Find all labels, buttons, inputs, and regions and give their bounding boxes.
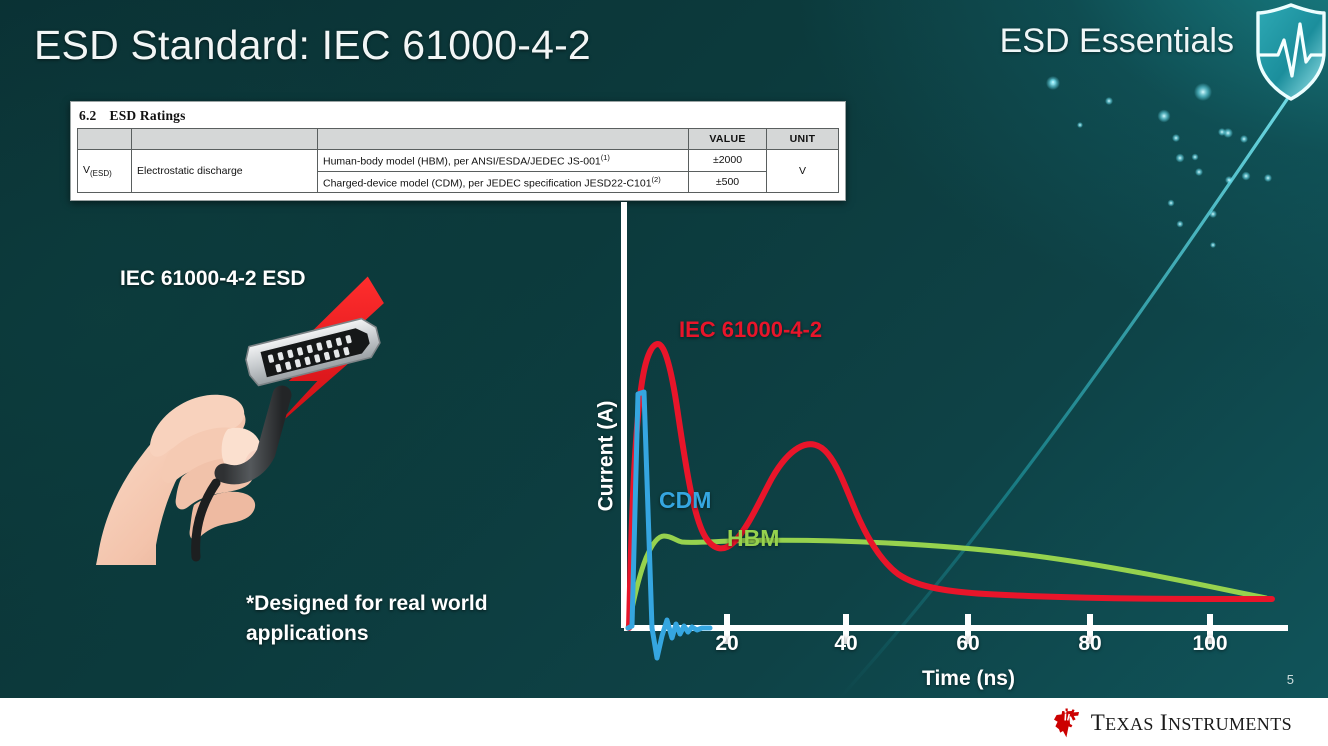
cell-value-cdm: ±500 bbox=[689, 171, 767, 193]
y-axis-label: Current (A) bbox=[594, 401, 618, 512]
desc-hbm-footnote: (1) bbox=[601, 153, 610, 162]
series-label-iec: IEC 61000-4-2 bbox=[679, 317, 822, 343]
esd-table-section-title: ESD Ratings bbox=[109, 108, 185, 123]
page-number: 5 bbox=[1287, 672, 1294, 687]
symbol-sub: (ESD) bbox=[90, 169, 112, 178]
header-blank-1 bbox=[78, 129, 132, 150]
cell-description-hbm: Human-body model (HBM), per ANSI/ESDA/JE… bbox=[318, 150, 689, 172]
header-value: VALUE bbox=[689, 129, 767, 150]
x-tick-label-100: 100 bbox=[1192, 632, 1227, 656]
brand-title: ESD Essentials bbox=[1000, 22, 1234, 61]
x-tick-label-60: 60 bbox=[956, 632, 979, 656]
texas-instruments-logo: TEXAS INSTRUMENTS bbox=[1052, 706, 1292, 740]
desc-cdm-text: Charged-device model (CDM), per JEDEC sp… bbox=[323, 177, 652, 189]
series-label-cdm: CDM bbox=[659, 487, 711, 514]
hand-connector-illustration bbox=[96, 255, 426, 565]
x-tick-label-20: 20 bbox=[715, 632, 738, 656]
desc-hbm-text: Human-body model (HBM), per ANSI/ESDA/JE… bbox=[323, 156, 601, 168]
cell-value-hbm: ±2000 bbox=[689, 150, 767, 172]
x-tick-label-40: 40 bbox=[834, 632, 857, 656]
header-blank-3 bbox=[318, 129, 689, 150]
esd-ratings-table-card: 6.2ESD Ratings VALUE UNIT V(ESD) Electro… bbox=[70, 101, 846, 201]
table-row: V(ESD) Electrostatic discharge Human-bod… bbox=[78, 150, 839, 172]
desc-cdm-footnote: (2) bbox=[652, 175, 661, 184]
esd-waveform-chart bbox=[566, 196, 1306, 696]
slide: ESD Standard: IEC 61000-4-2 ESD Essentia… bbox=[0, 0, 1328, 698]
header-unit: UNIT bbox=[767, 129, 839, 150]
ti-wordmark: TEXAS INSTRUMENTS bbox=[1091, 710, 1292, 736]
esd-table-heading: 6.2ESD Ratings bbox=[79, 108, 839, 124]
cell-parameter: Electrostatic discharge bbox=[132, 150, 318, 193]
esd-ratings-table: VALUE UNIT V(ESD) Electrostatic discharg… bbox=[77, 128, 839, 193]
note-text: *Designed for real world applications bbox=[246, 589, 576, 650]
ti-texas-mark-icon bbox=[1052, 707, 1082, 739]
cell-symbol: V(ESD) bbox=[78, 150, 132, 193]
cell-description-cdm: Charged-device model (CDM), per JEDEC sp… bbox=[318, 171, 689, 193]
shield-heartbeat-icon bbox=[1248, 0, 1328, 104]
symbol-main: V bbox=[83, 164, 90, 176]
x-axis-label: Time (ns) bbox=[922, 667, 1015, 691]
esd-table-section-number: 6.2 bbox=[79, 108, 96, 123]
table-header-row: VALUE UNIT bbox=[78, 129, 839, 150]
series-iec-line bbox=[629, 344, 1272, 628]
header-blank-2 bbox=[132, 129, 318, 150]
cell-unit: V bbox=[767, 150, 839, 193]
series-label-hbm: HBM bbox=[727, 525, 779, 552]
x-tick-label-80: 80 bbox=[1078, 632, 1101, 656]
page-title: ESD Standard: IEC 61000-4-2 bbox=[34, 22, 591, 69]
